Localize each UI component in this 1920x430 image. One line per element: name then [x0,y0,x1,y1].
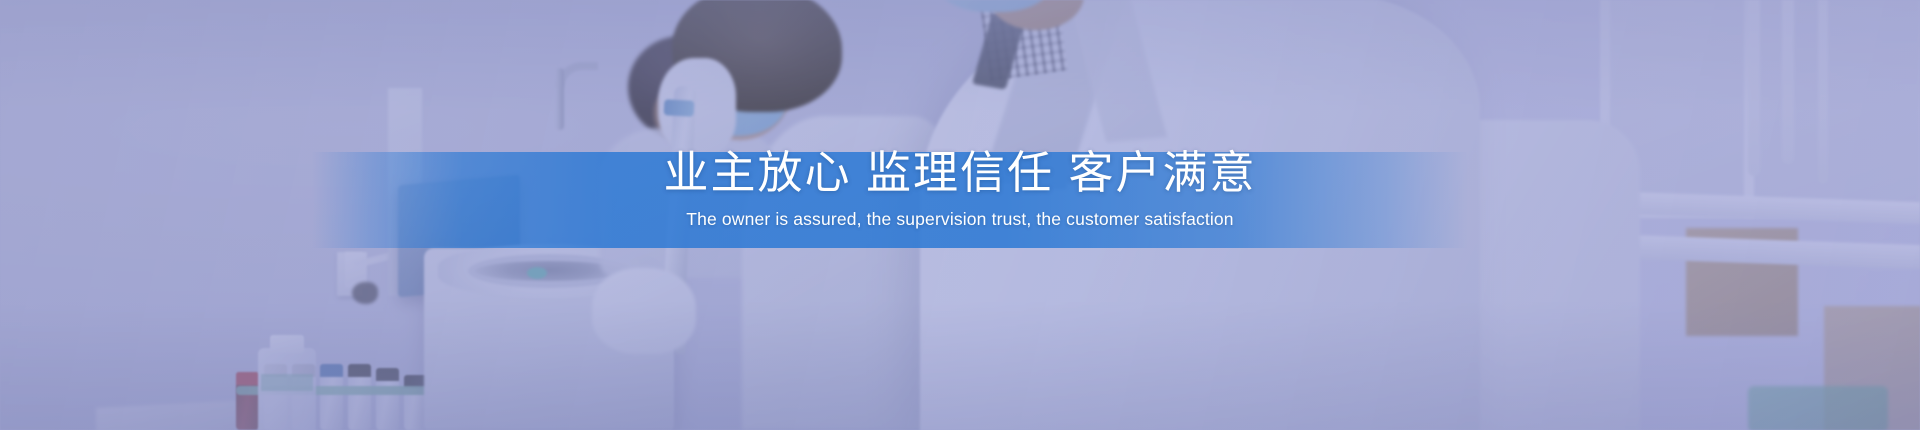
headline-band [312,152,1468,248]
lab-hero-banner: 业主放心 监理信任 客户满意 The owner is assured, the… [0,0,1920,430]
